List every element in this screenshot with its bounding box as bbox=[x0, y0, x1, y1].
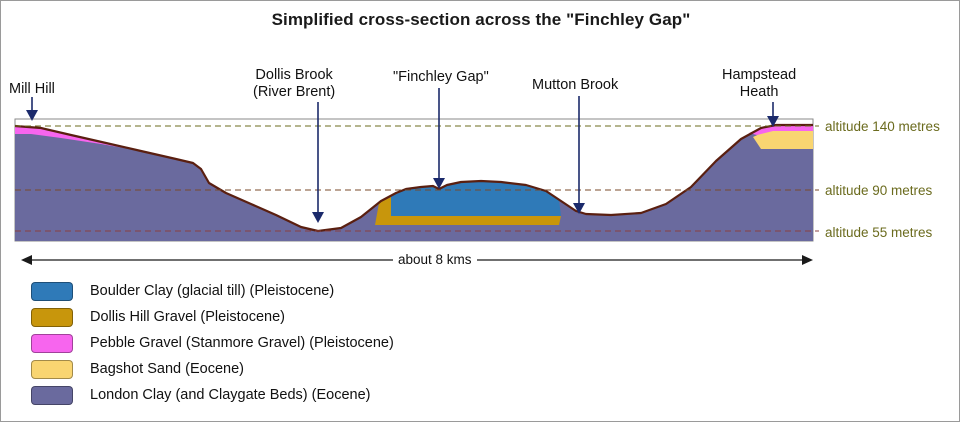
legend-row-london-clay: London Clay (and Claygate Beds) (Eocene) bbox=[31, 382, 394, 408]
legend-swatch-london-clay bbox=[31, 386, 73, 405]
legend-row-bagshot-sand: Bagshot Sand (Eocene) bbox=[31, 356, 394, 382]
legend-row-dollis-hill-gravel: Dollis Hill Gravel (Pleistocene) bbox=[31, 304, 394, 330]
legend-swatch-pebble-gravel bbox=[31, 334, 73, 353]
legend-label-boulder-clay: Boulder Clay (glacial till) (Pleistocene… bbox=[90, 283, 334, 299]
legend-label-london-clay: London Clay (and Claygate Beds) (Eocene) bbox=[90, 387, 371, 403]
scale-bar-label: about 8 kms bbox=[393, 252, 477, 267]
scale-bar-arrow-left bbox=[21, 255, 32, 265]
legend-row-boulder-clay: Boulder Clay (glacial till) (Pleistocene… bbox=[31, 278, 394, 304]
legend-label-bagshot-sand: Bagshot Sand (Eocene) bbox=[90, 361, 244, 377]
feature-label-hampstead-heath: Hampstead Heath bbox=[722, 67, 796, 101]
legend-label-dollis-hill-gravel: Dollis Hill Gravel (Pleistocene) bbox=[90, 309, 285, 325]
feature-label-finchley-gap: "Finchley Gap" bbox=[393, 69, 489, 86]
altitude-label-90: altitude 90 metres bbox=[825, 183, 932, 198]
feature-label-mutton-brook: Mutton Brook bbox=[532, 77, 618, 94]
altitude-label-55: altitude 55 metres bbox=[825, 225, 932, 240]
feature-label-mill-hill: Mill Hill bbox=[9, 81, 55, 98]
legend-swatch-bagshot-sand bbox=[31, 360, 73, 379]
legend: Boulder Clay (glacial till) (Pleistocene… bbox=[31, 278, 394, 408]
altitude-label-140: altitude 140 metres bbox=[825, 119, 940, 134]
cross-section-figure: Simplified cross-section across the "Fin… bbox=[0, 0, 960, 422]
legend-swatch-dollis-hill-gravel bbox=[31, 308, 73, 327]
legend-row-pebble-gravel: Pebble Gravel (Stanmore Gravel) (Pleisto… bbox=[31, 330, 394, 356]
legend-label-pebble-gravel: Pebble Gravel (Stanmore Gravel) (Pleisto… bbox=[90, 335, 394, 351]
scale-bar-arrow-right bbox=[802, 255, 813, 265]
feature-label-dollis-brook: Dollis Brook (River Brent) bbox=[253, 67, 335, 101]
legend-swatch-boulder-clay bbox=[31, 282, 73, 301]
